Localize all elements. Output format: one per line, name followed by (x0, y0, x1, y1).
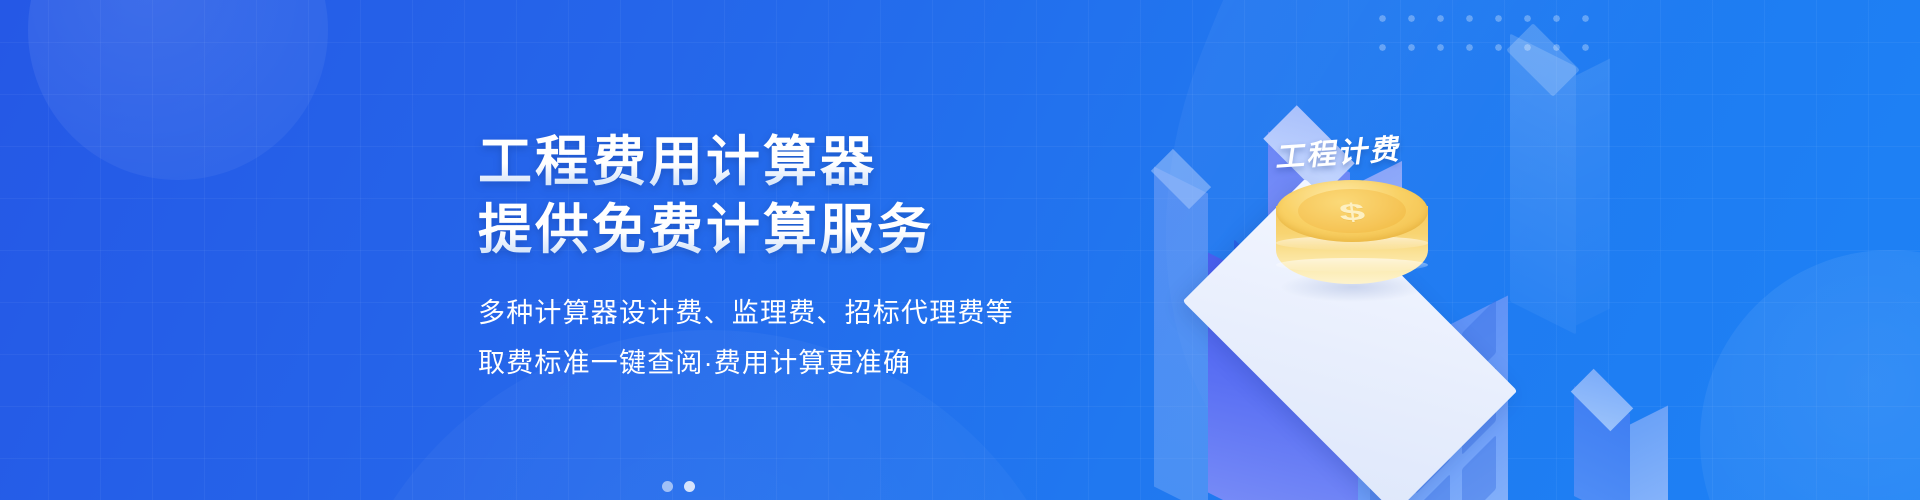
carousel-dot-1[interactable] (662, 481, 673, 492)
subtitle-line-2: 取费标准一键查阅·费用计算更准确 (478, 338, 1014, 388)
coin-edge-ring (1276, 258, 1428, 272)
headline-line-1: 工程费用计算器 (478, 128, 1014, 196)
banner-copy: 工程费用计算器 提供免费计算服务 多种计算器设计费、监理费、招标代理费等 取费标… (478, 128, 1014, 388)
headline-line-2: 提供免费计算服务 (478, 196, 1014, 264)
iso-bar-tall-ghost-side (1576, 58, 1610, 325)
coin-stack-icon: $ (1276, 180, 1428, 298)
decorative-circle-top-left (28, 0, 328, 180)
subtitle-group: 多种计算器设计费、监理费、招标代理费等 取费标准一键查阅·费用计算更准确 (478, 288, 1014, 388)
hero-illustration: $ 工程计费 (1080, 0, 1920, 500)
dollar-sign-icon: $ (1337, 198, 1366, 227)
coin-top-face: $ (1276, 180, 1428, 242)
iso-bar-far-left-face (1154, 166, 1208, 500)
iso-bar-small-right-face (1630, 405, 1668, 500)
carousel-dot-2[interactable] (684, 481, 695, 492)
carousel-indicators[interactable] (662, 481, 695, 492)
hero-banner: 工程费用计算器 提供免费计算服务 多种计算器设计费、监理费、招标代理费等 取费标… (0, 0, 1920, 500)
subtitle-line-1: 多种计算器设计费、监理费、招标代理费等 (478, 288, 1014, 338)
